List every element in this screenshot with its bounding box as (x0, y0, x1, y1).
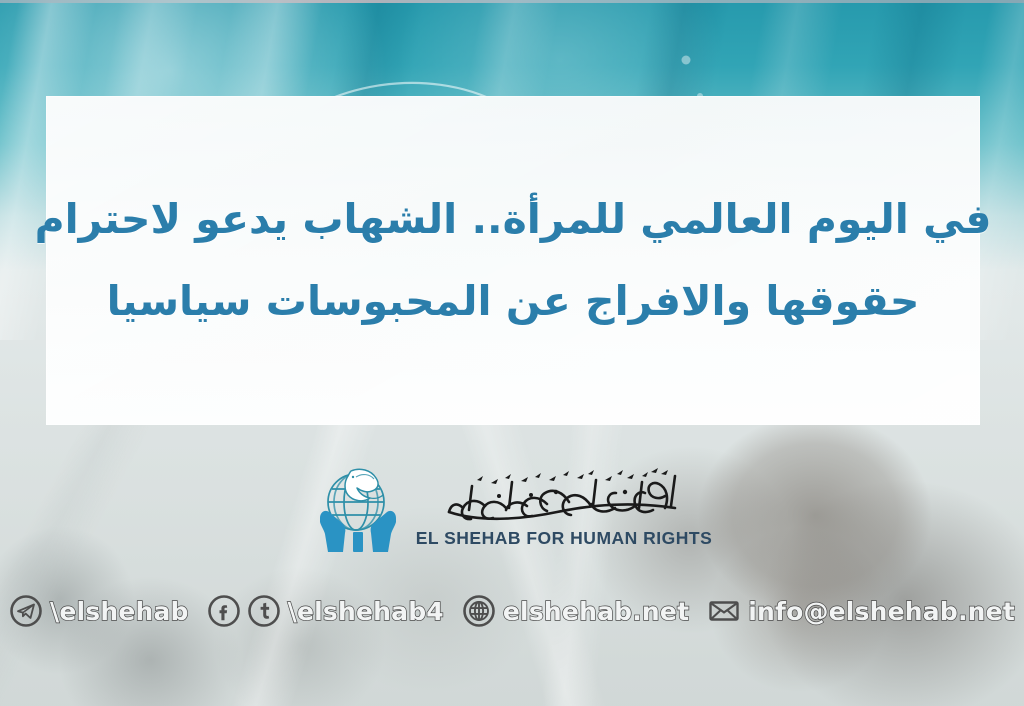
contact-bar: \elshehab \elshehab4 (0, 588, 1024, 634)
banner-poster: في اليوم العالمي للمرأة.. الشهاب يدعو لا… (0, 0, 1024, 706)
email-address: info@elshehab.net (748, 599, 1015, 624)
telegram-handle: \elshehab (50, 599, 189, 624)
logo-arabic-calligraphy (439, 462, 689, 530)
twitter-handle: \elshehab4 (288, 599, 444, 624)
website-url: elshehab.net (503, 599, 689, 624)
contact-group-email[interactable]: info@elshehab.net (707, 594, 1015, 628)
globe-icon[interactable] (462, 594, 496, 628)
logo-english-name: EL SHEHAB FOR HUMAN RIGHTS (416, 528, 713, 549)
contact-group-telegram[interactable]: \elshehab (9, 594, 189, 628)
hands-icon (320, 511, 396, 552)
twitter-icon[interactable] (247, 594, 281, 628)
headline-panel: في اليوم العالمي للمرأة.. الشهاب يدعو لا… (46, 96, 980, 425)
top-hairline (0, 0, 1024, 3)
telegram-icon[interactable] (9, 594, 43, 628)
contact-group-social[interactable]: \elshehab4 (207, 594, 444, 628)
organization-logo: EL SHEHAB FOR HUMAN RIGHTS (0, 460, 1024, 570)
headline-line-2: حقوقها والافراج عن المحبوسات سياسيا (107, 276, 920, 327)
facebook-icon[interactable] (207, 594, 241, 628)
logo-mark (312, 460, 404, 555)
contact-group-website[interactable]: elshehab.net (462, 594, 689, 628)
email-icon[interactable] (707, 594, 741, 628)
logo-wordmark: EL SHEHAB FOR HUMAN RIGHTS (416, 462, 713, 549)
headline-line-1: في اليوم العالمي للمرأة.. الشهاب يدعو لا… (35, 194, 992, 245)
